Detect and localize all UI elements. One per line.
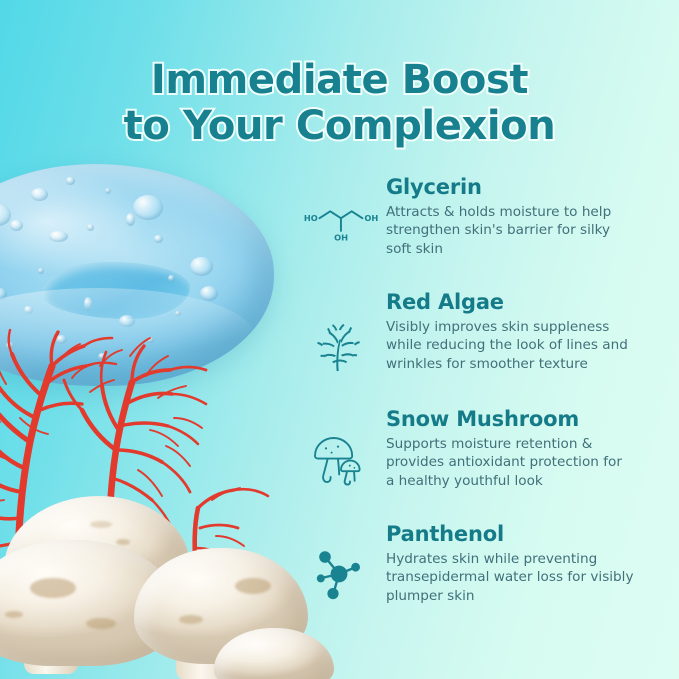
page-title: Immediate Boost to Your Complexion [0, 57, 679, 150]
mushroom-back [4, 496, 190, 608]
ingredient-title-glycerin: Glycerin [386, 176, 652, 199]
ingredient-title-red-algae: Red Algae [386, 291, 652, 314]
mushroom-stem-right [176, 618, 238, 679]
mushroom-left [0, 540, 180, 666]
ingredient-text-glycerin: Glycerin Attracts & holds moisture to he… [386, 176, 652, 258]
mushroom-stem-left [24, 592, 78, 674]
ingredient-title-snow-mushroom: Snow Mushroom [386, 408, 652, 431]
ingredient-desc-snow-mushroom: Supports moisture retention & provides a… [386, 435, 634, 490]
glycerin-label-left: HO [304, 213, 318, 223]
gel-blob-photo [0, 164, 274, 386]
molecule-node-icon [300, 545, 378, 603]
ingredient-desc-glycerin: Attracts & holds moisture to help streng… [386, 203, 634, 258]
ingredient-item-snow-mushroom: Snow Mushroom Supports moisture retentio… [300, 408, 652, 502]
glycerin-molecule-icon: HO OH OH [300, 204, 378, 246]
mushroom-icon [300, 432, 378, 488]
ingredient-item-panthenol: Panthenol Hydrates skin while preventing… [300, 523, 652, 607]
glycerin-label-right: OH [364, 213, 378, 223]
ingredient-item-red-algae: Red Algae Visibly improves skin supplene… [300, 291, 652, 387]
seaweed-icon [300, 317, 378, 375]
ingredient-title-panthenol: Panthenol [386, 523, 652, 546]
ingredient-item-glycerin: HO OH OH Glycerin Attracts & holds moist… [300, 176, 652, 270]
gel-swirl [42, 262, 190, 320]
ingredient-desc-red-algae: Visibly improves skin suppleness while r… [386, 318, 634, 373]
mushroom-small [214, 628, 334, 679]
mushroom-right [134, 548, 308, 664]
ingredient-desc-panthenol: Hydrates skin while preventing transepid… [386, 550, 634, 605]
glycerin-label-bottom: OH [334, 233, 348, 243]
ingredient-list: HO OH OH Glycerin Attracts & holds moist… [300, 176, 652, 628]
ingredient-text-red-algae: Red Algae Visibly improves skin supplene… [386, 291, 652, 373]
title-line-1: Immediate Boost [0, 57, 679, 103]
ingredient-text-snow-mushroom: Snow Mushroom Supports moisture retentio… [386, 408, 652, 490]
red-algae-photo [0, 322, 290, 572]
infographic-canvas: Immediate Boost to Your Complexion HO OH… [0, 0, 679, 679]
title-line-2: to Your Complexion [0, 103, 679, 149]
ingredient-text-panthenol: Panthenol Hydrates skin while preventing… [386, 523, 652, 605]
